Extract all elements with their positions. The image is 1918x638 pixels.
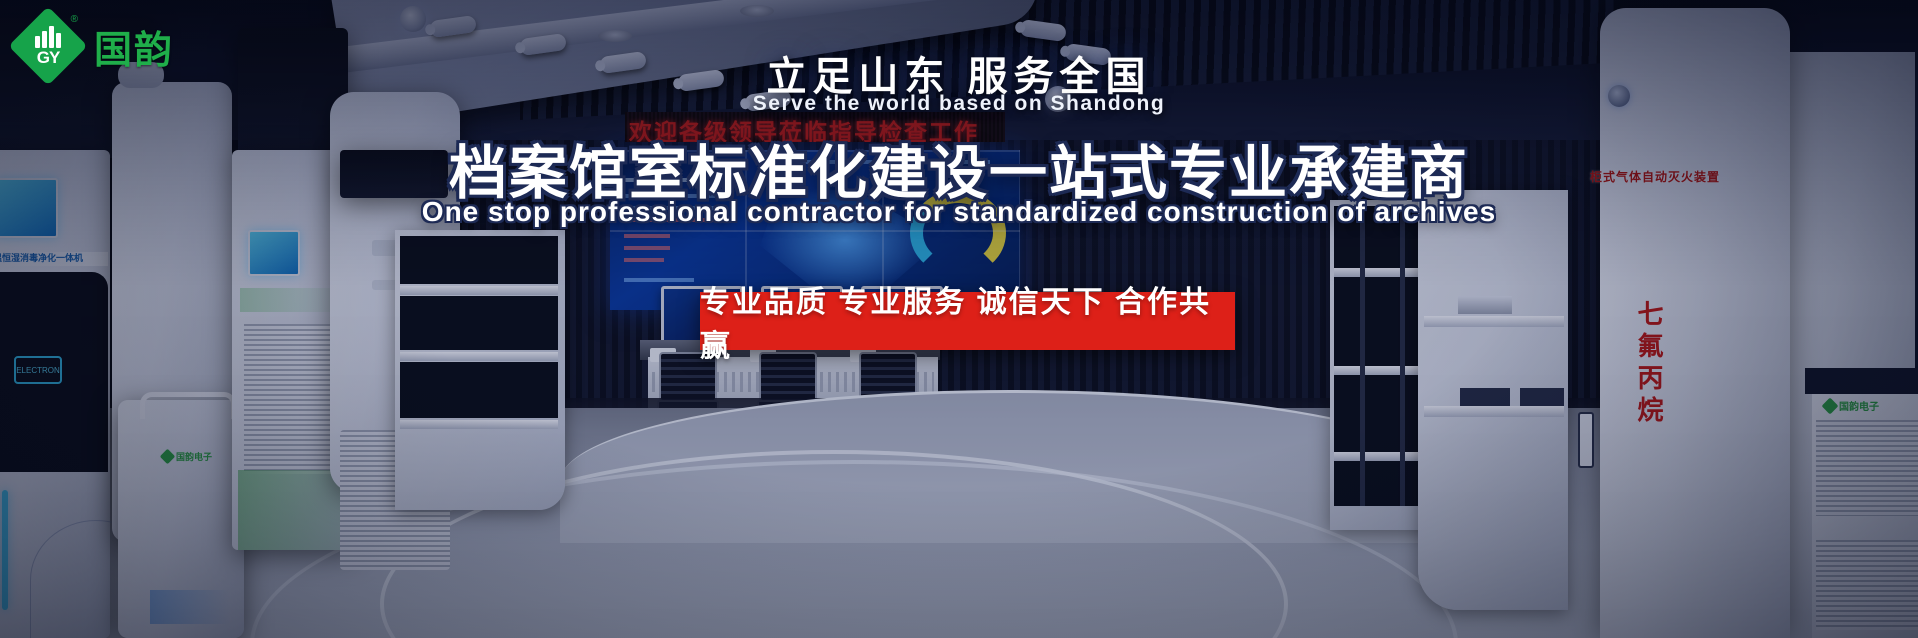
mobile-purifier-handle (140, 392, 236, 419)
brand-label: 国韵电子 (176, 450, 212, 463)
cabinet-label-strip: 恒温恒湿消毒净化一体机 (0, 252, 108, 266)
hero-headline-en: One stop professional contractor for sta… (0, 196, 1918, 228)
ceiling-downlight-icon (740, 5, 774, 17)
hero-kicker-en: Serve the world based on Shandong (0, 92, 1918, 116)
fire-agent-label: 七氟丙烷 (1625, 300, 1665, 428)
logo-mark-text: GY (37, 49, 60, 66)
mobile-purifier-brand: 国韵电子 (162, 450, 212, 463)
cabinet-badge: ELECTRON (14, 356, 62, 384)
gy-diamond-logo-icon (1822, 397, 1839, 414)
cabinet-dark-panel: ELECTRON (0, 272, 108, 472)
cabinet-lcd-screen (248, 230, 300, 276)
purifier-decal-horse (150, 590, 230, 624)
archive-shelf-board (400, 352, 558, 361)
right-unit-brand: 国韵电子 (1824, 398, 1879, 413)
archive-shelf-gap (400, 362, 558, 418)
archive-box (1458, 296, 1512, 314)
gy-diamond-logo-icon: GY ® (14, 12, 82, 80)
brand-logo[interactable]: GY ® 国韵 (14, 12, 174, 80)
archive-shelf-gap (400, 296, 558, 350)
hero-banner: 欢迎各级领导莅临指导检查工作 (0, 0, 1918, 638)
archive-shelf-divider (1360, 206, 1365, 506)
cabinet-uv-strip (2, 490, 8, 610)
archive-shelf-gap (400, 236, 558, 284)
hero-slogan-banner: 专业品质 专业服务 诚信天下 合作共赢 (700, 292, 1235, 350)
hero-slogan-text: 专业品质 专业服务 诚信天下 合作共赢 (700, 277, 1235, 365)
gy-diamond-logo-icon (160, 449, 176, 465)
ceiling-downlight-icon (598, 30, 632, 42)
registered-trademark-icon: ® (71, 14, 78, 25)
ceiling-spot-icon (400, 6, 426, 32)
brand-name: 国韵 (94, 19, 174, 74)
archive-shelf-board (1424, 316, 1564, 327)
fire-cabinet-handle (1578, 412, 1594, 468)
archive-shelf-board (400, 286, 558, 295)
archive-shelf-board (1424, 406, 1564, 417)
archive-box (1460, 388, 1510, 406)
archive-box (1520, 388, 1564, 406)
archive-shelf-divider (1400, 206, 1405, 506)
right-unit-vent (1816, 420, 1918, 516)
right-lower-unit-top (1805, 368, 1918, 394)
cabinet-label-text: 恒温恒湿消毒净化一体机 (0, 251, 83, 264)
archive-shelf-board (400, 420, 558, 429)
right-unit-vent (1816, 540, 1918, 630)
brand-label: 国韵电子 (1839, 398, 1879, 413)
